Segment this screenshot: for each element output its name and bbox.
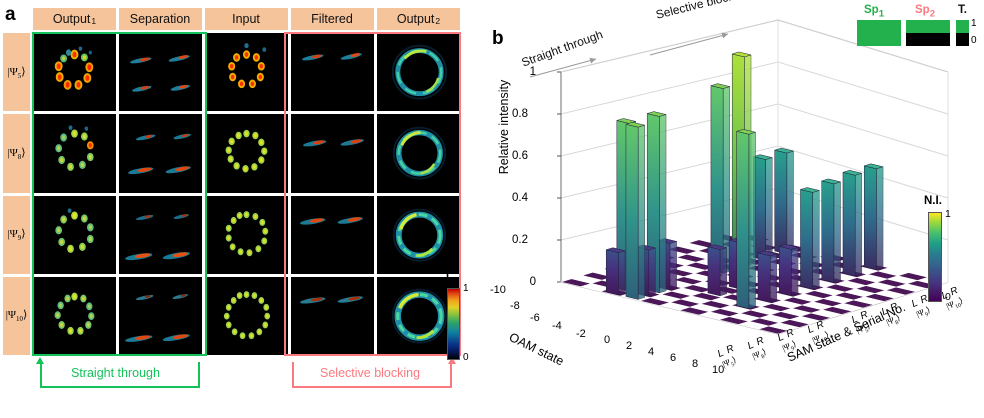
panel-b: b Relative intensity 1 0.8 0.6 0.4 0.2 0 [478, 0, 984, 418]
col-head-text: Separation [130, 12, 190, 26]
image-input-psi8 [205, 114, 288, 192]
panel-a: a Output1 Separation Input Filtered Outp… [0, 0, 478, 418]
ni-colorbar-title: N.I. [924, 195, 942, 207]
oam-tick-4: 4 [648, 346, 654, 358]
intensity-colorbar-max: 1 [463, 283, 469, 294]
image-input-psi10 [205, 277, 288, 355]
transmission-colorbar [956, 20, 969, 46]
beam-image-grid [33, 33, 460, 355]
arrow-up-straight-icon [36, 357, 44, 364]
intensity-colorbar-title: I. [446, 272, 452, 284]
ni-colorbar [928, 212, 942, 302]
image-output1-psi5 [33, 33, 116, 111]
row-label-psi8: |Ψ8⟩ [3, 114, 30, 192]
column-header-row: Output1 Separation Input Filtered Output… [33, 8, 460, 30]
ni-colorbar-max: 1 [945, 208, 951, 220]
row-label-column: |Ψ5⟩ |Ψ8⟩ |Ψ9⟩ |Ψ10⟩ [3, 33, 30, 355]
image-input-psi5 [205, 33, 288, 111]
col-head-text: Input [232, 12, 260, 26]
ket-label: |Ψ9⟩ [7, 227, 25, 242]
col-head-sub: 1 [90, 16, 96, 26]
sp2-swatch [906, 20, 950, 46]
image-filtered-psi10 [291, 277, 374, 355]
column-header-input: Input [205, 8, 288, 30]
oam-tick--10: -10 [490, 284, 506, 296]
col-head-text: Output [397, 12, 435, 26]
image-input-psi9 [205, 196, 288, 274]
image-output2-psi8 [377, 114, 460, 192]
transmission-max: 1 [971, 18, 977, 29]
image-separation-psi5 [119, 33, 202, 111]
column-header-output1: Output1 [33, 8, 116, 30]
column-header-output2: Output2 [377, 8, 460, 30]
sp2-label: Sp2 [915, 4, 935, 19]
oam-tick--4: -4 [552, 320, 562, 332]
oam-tick-6: 6 [670, 352, 676, 364]
transmission-legend: Sp1 Sp2 T. 1 0 [853, 4, 981, 48]
ket-label: |Ψ8⟩ [7, 146, 25, 161]
oam-tick-8: 8 [692, 358, 698, 370]
oam-tick-0: 0 [604, 334, 610, 346]
label-straight-through: Straight through [71, 366, 160, 380]
intensity-colorbar [447, 288, 460, 360]
image-filtered-psi8 [291, 114, 374, 192]
row-label-psi10: |Ψ10⟩ [3, 277, 30, 355]
image-filtered-psi5 [291, 33, 374, 111]
row-label-psi9: |Ψ9⟩ [3, 196, 30, 274]
sp1-label: Sp1 [864, 4, 884, 19]
label-selective-blocking: Selective blocking [320, 366, 420, 380]
image-output2-psi5 [377, 33, 460, 111]
image-filtered-psi9 [291, 196, 374, 274]
image-output1-psi8 [33, 114, 116, 192]
image-separation-psi10 [119, 277, 202, 355]
oam-tick-2: 2 [626, 340, 632, 352]
col-head-text: Filtered [311, 12, 353, 26]
row-label-psi5: |Ψ5⟩ [3, 33, 30, 111]
oam-tick--8: -8 [510, 300, 520, 312]
panel-a-label: a [5, 4, 16, 26]
col-head-text: Output [53, 12, 91, 26]
intensity-colorbar-min: 0 [463, 352, 469, 363]
ni-colorbar-min: 0 [945, 291, 951, 303]
image-output1-psi10 [33, 277, 116, 355]
col-head-sub: 2 [434, 16, 440, 26]
image-separation-psi9 [119, 196, 202, 274]
ket-label: |Ψ10⟩ [6, 308, 28, 323]
sp1-swatch [857, 20, 901, 46]
oam-tick--2: -2 [576, 328, 586, 340]
image-output2-psi9 [377, 196, 460, 274]
column-header-filtered: Filtered [291, 8, 374, 30]
transmission-colorbar-title: T. [958, 4, 967, 16]
oam-tick--6: -6 [530, 312, 540, 324]
ket-label: |Ψ5⟩ [7, 65, 25, 80]
column-header-separation: Separation [119, 8, 202, 30]
image-separation-psi8 [119, 114, 202, 192]
image-output1-psi9 [33, 196, 116, 274]
transmission-min: 0 [971, 35, 977, 46]
